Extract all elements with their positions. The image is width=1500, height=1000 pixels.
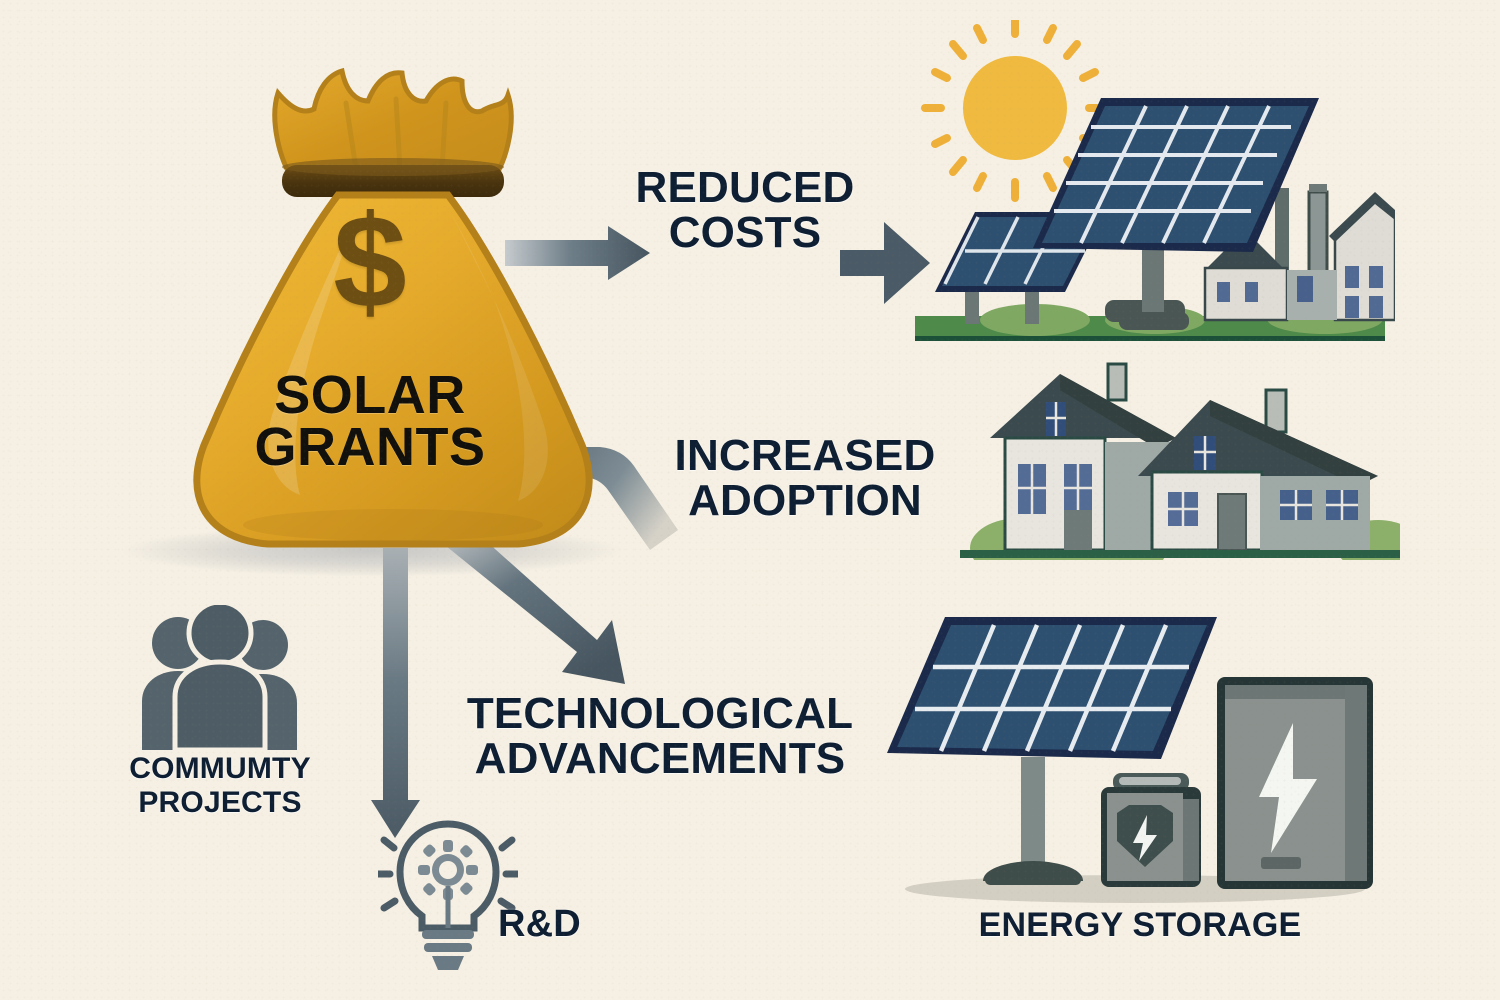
label-reduced-costs: REDUCED COSTS [600,166,890,256]
arrow-to-rnd [371,548,420,838]
battery-cabinet [1217,677,1373,889]
battery-small [1101,773,1201,887]
infographic-canvas: $ SOLAR GRANTS REDUCED COSTS INCREASED A… [0,0,1500,1000]
caption-energy-storage: ENERGY STORAGE [900,908,1380,943]
bag-currency-symbol: $ [170,196,570,328]
label-community-projects: COMMUMTY PROJECTS [80,752,360,819]
house-left [990,364,1176,550]
bag-title: SOLAR GRANTS [170,370,570,474]
house-right [1138,390,1378,550]
label-increased-adoption: INCREASED ADOPTION [640,434,970,524]
label-technological-advancements: TECHNOLOGICAL ADVANCEMENTS [430,692,890,782]
label-rnd: R&D [498,905,658,944]
